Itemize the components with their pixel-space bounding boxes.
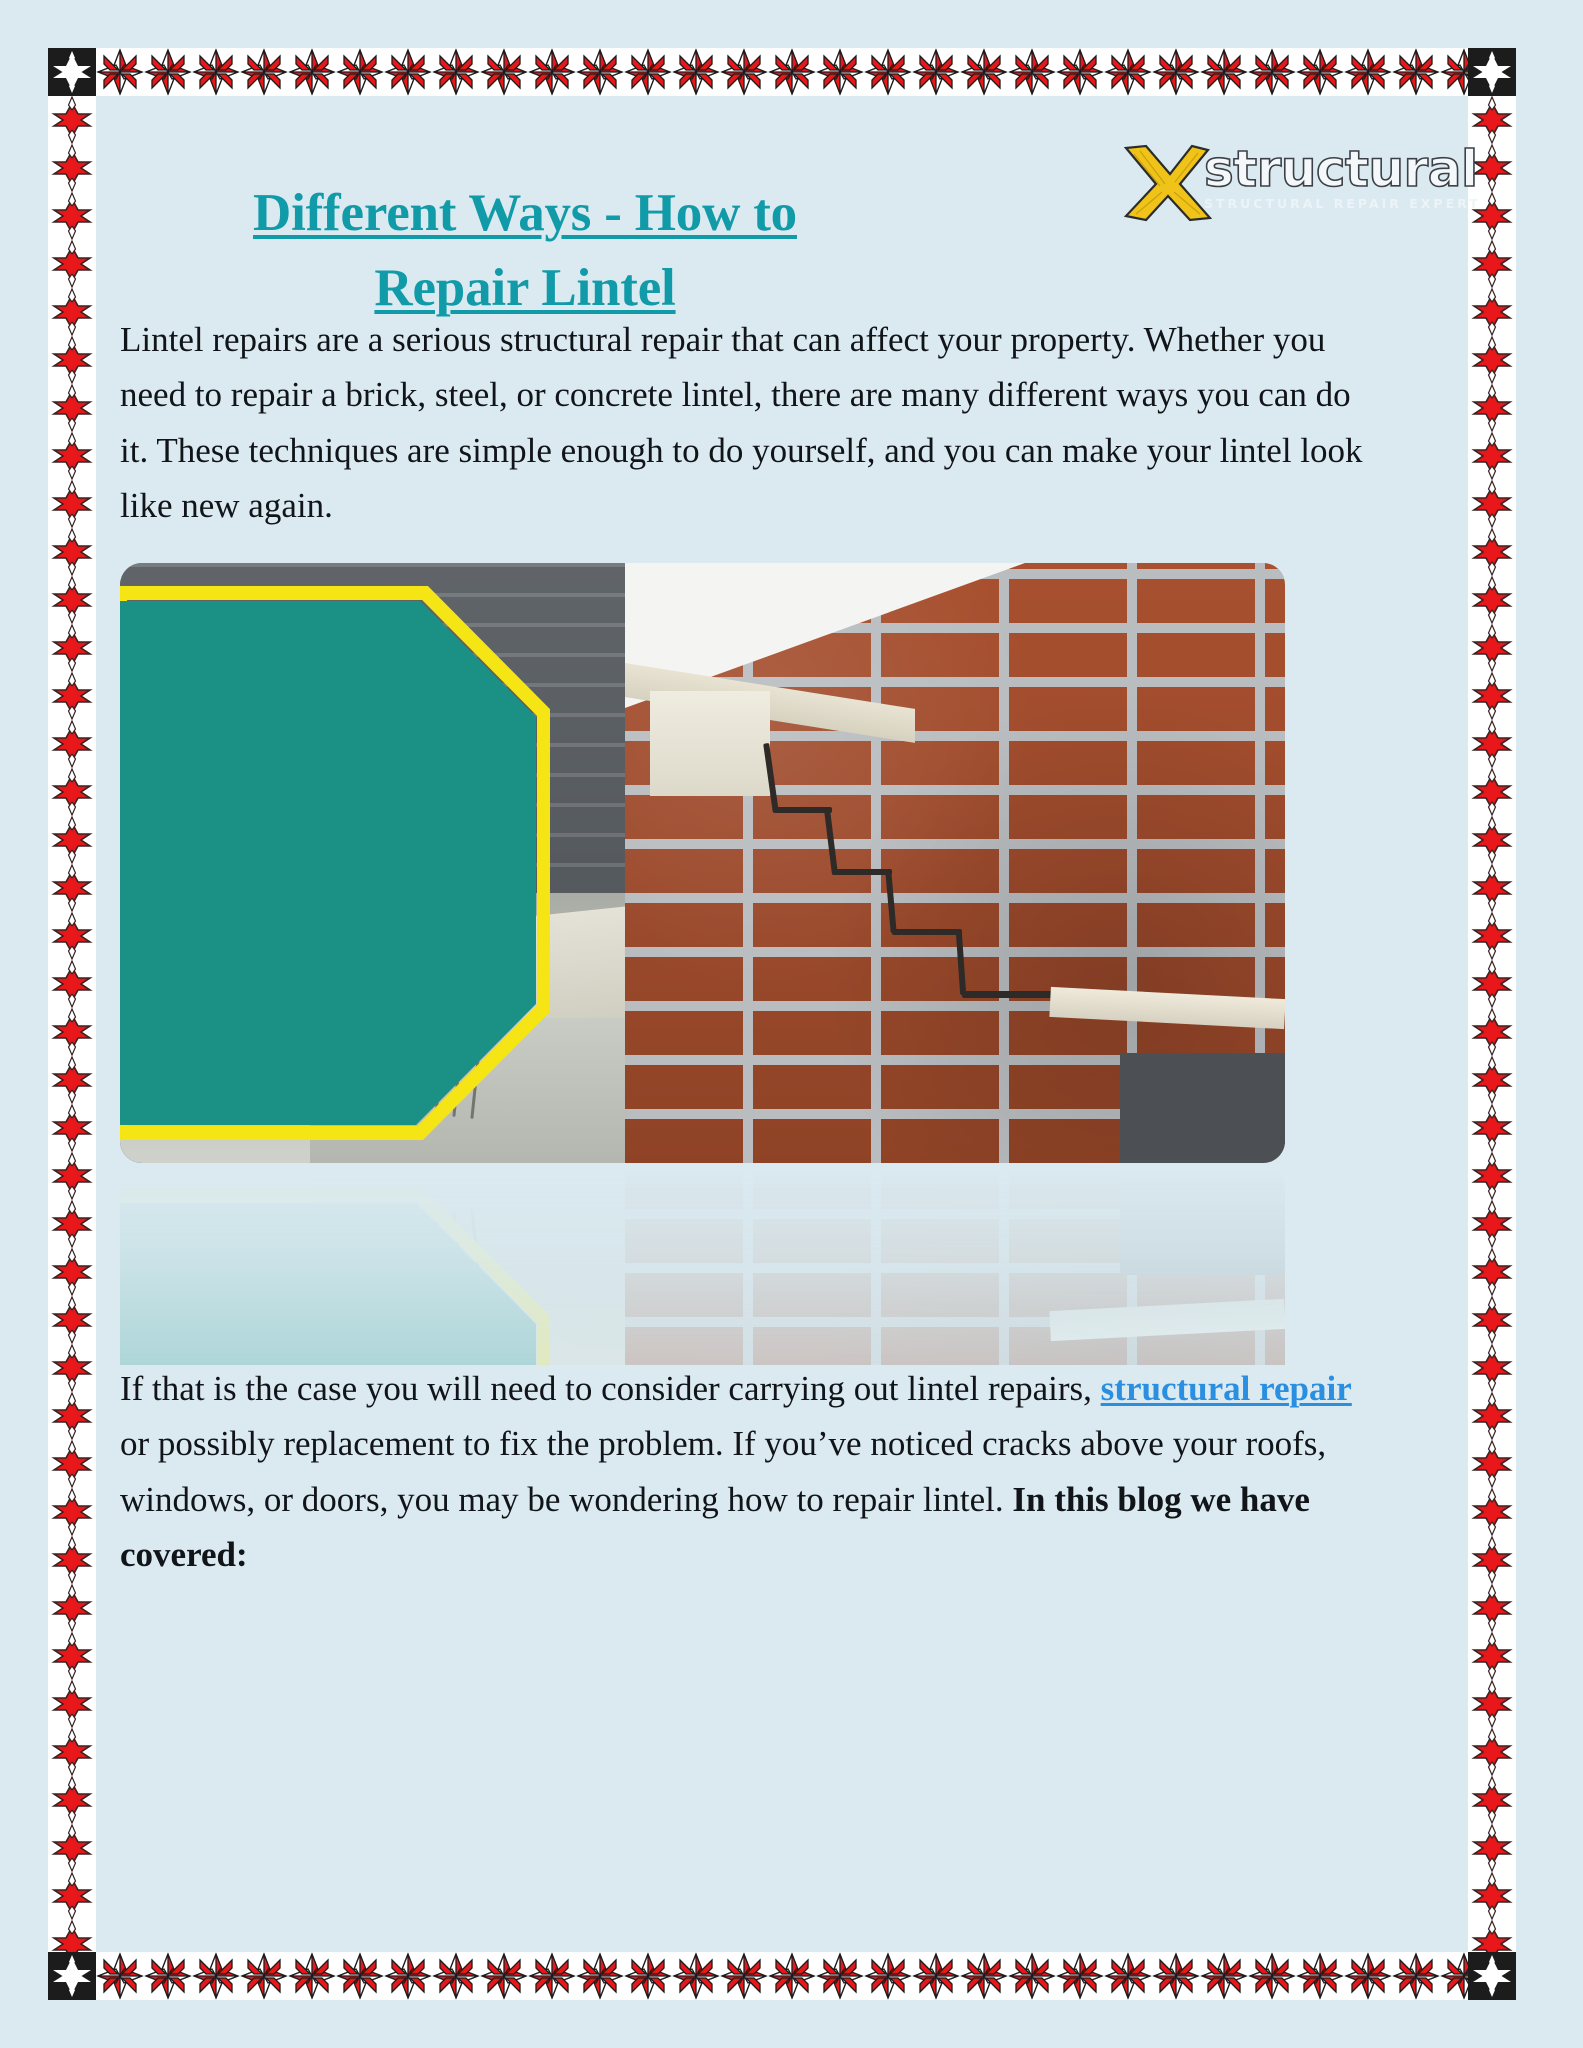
red-eight-point-star-icon (1152, 1952, 1200, 2000)
red-eight-point-star-icon (912, 48, 960, 96)
page-title-line-1: Different Ways - How to (253, 184, 797, 242)
red-eight-point-star-icon (768, 48, 816, 96)
red-six-point-star-icon (1468, 960, 1516, 1008)
red-eight-point-star-icon (336, 48, 384, 96)
red-six-point-star-icon (1468, 624, 1516, 672)
red-six-point-star-icon (1468, 1344, 1516, 1392)
red-eight-point-star-icon (720, 1952, 768, 2000)
red-six-point-star-icon (48, 1200, 96, 1248)
red-six-point-star-icon (1468, 1440, 1516, 1488)
document-header: Different Ways - How toRepair Lintel (120, 104, 1450, 294)
red-eight-point-star-icon (480, 1952, 528, 2000)
red-eight-point-star-icon (528, 48, 576, 96)
red-six-point-star-icon (1468, 1392, 1516, 1440)
red-six-point-star-icon (48, 528, 96, 576)
border-star-column-left (48, 96, 96, 1952)
red-eight-point-star-icon (576, 1952, 624, 2000)
red-six-point-star-icon (48, 240, 96, 288)
red-eight-point-star-icon (1104, 48, 1152, 96)
red-six-point-star-icon (1468, 816, 1516, 864)
red-six-point-star-icon (1468, 576, 1516, 624)
red-six-point-star-icon (1468, 1056, 1516, 1104)
brand-logo-tagline: STRUCTURAL REPAIR EXPERT (1204, 196, 1494, 211)
red-six-point-star-icon (48, 720, 96, 768)
red-six-point-star-icon (48, 432, 96, 480)
red-six-point-star-icon (1468, 1872, 1516, 1920)
red-eight-point-star-icon (432, 1952, 480, 2000)
photo-wall-crack (832, 869, 892, 875)
closing-paragraph-part-1: If that is the case you will need to con… (120, 1369, 1101, 1408)
red-eight-point-star-icon (240, 48, 288, 96)
white-six-point-star-icon (48, 1952, 96, 2000)
red-eight-point-star-icon (384, 1952, 432, 2000)
red-six-point-star-icon (1468, 1296, 1516, 1344)
red-six-point-star-icon (48, 912, 96, 960)
red-eight-point-star-icon (1200, 48, 1248, 96)
red-six-point-star-icon (48, 1440, 96, 1488)
red-six-point-star-icon (1468, 1200, 1516, 1248)
red-eight-point-star-icon (240, 1952, 288, 2000)
red-eight-point-star-icon (912, 1952, 960, 2000)
red-six-point-star-icon (1468, 1776, 1516, 1824)
red-eight-point-star-icon (192, 48, 240, 96)
red-eight-point-star-icon (144, 1952, 192, 2000)
red-eight-point-star-icon (1056, 1952, 1104, 2000)
red-eight-point-star-icon (1008, 48, 1056, 96)
red-six-point-star-icon (48, 1632, 96, 1680)
red-six-point-star-icon (1468, 720, 1516, 768)
border-star-column-right (1468, 96, 1516, 1952)
red-eight-point-star-icon (1440, 1952, 1468, 2000)
red-eight-point-star-icon (144, 48, 192, 96)
border-corner-top-right (1468, 48, 1516, 96)
red-eight-point-star-icon (1008, 1952, 1056, 2000)
red-eight-point-star-icon (1344, 48, 1392, 96)
red-eight-point-star-icon (1056, 48, 1104, 96)
image-overlay-panel (120, 563, 550, 1163)
red-six-point-star-icon (48, 576, 96, 624)
red-six-point-star-icon (48, 1104, 96, 1152)
brand-logo-text: structural STRUCTURAL REPAIR EXPERT (1204, 144, 1494, 211)
red-eight-point-star-icon (816, 48, 864, 96)
red-eight-point-star-icon (1440, 48, 1468, 96)
document-page: Different Ways - How toRepair Lintel (0, 0, 1583, 2048)
photo-wall-crack (892, 929, 962, 935)
red-six-point-star-icon (48, 1008, 96, 1056)
red-six-point-star-icon (48, 480, 96, 528)
red-six-point-star-icon (1468, 912, 1516, 960)
red-six-point-star-icon (48, 1584, 96, 1632)
red-six-point-star-icon (48, 1248, 96, 1296)
red-six-point-star-icon (48, 1872, 96, 1920)
red-six-point-star-icon (1468, 1008, 1516, 1056)
red-eight-point-star-icon (960, 48, 1008, 96)
red-six-point-star-icon (1468, 480, 1516, 528)
border-corner-bottom-left (48, 1952, 96, 2000)
white-six-point-star-icon (1468, 48, 1516, 96)
red-six-point-star-icon (1468, 528, 1516, 576)
red-six-point-star-icon (48, 384, 96, 432)
red-six-point-star-icon (1468, 288, 1516, 336)
red-six-point-star-icon (48, 768, 96, 816)
red-six-point-star-icon (1468, 1824, 1516, 1872)
red-six-point-star-icon (1468, 1104, 1516, 1152)
red-eight-point-star-icon (864, 48, 912, 96)
border-corner-bottom-right (1468, 1952, 1516, 2000)
red-six-point-star-icon (1468, 1920, 1516, 1952)
red-eight-point-star-icon (192, 1952, 240, 2000)
red-six-point-star-icon (48, 1344, 96, 1392)
intro-paragraph: Lintel repairs are a serious structural … (120, 312, 1365, 533)
red-eight-point-star-icon (1152, 48, 1200, 96)
red-eight-point-star-icon (432, 48, 480, 96)
red-six-point-star-icon (1468, 432, 1516, 480)
red-six-point-star-icon (48, 672, 96, 720)
red-six-point-star-icon (48, 624, 96, 672)
red-six-point-star-icon (48, 1152, 96, 1200)
red-eight-point-star-icon (480, 48, 528, 96)
red-six-point-star-icon (48, 1824, 96, 1872)
red-eight-point-star-icon (1248, 48, 1296, 96)
document-content: Different Ways - How toRepair Lintel (120, 104, 1450, 1944)
red-eight-point-star-icon (1296, 48, 1344, 96)
red-six-point-star-icon (48, 96, 96, 144)
structural-repair-link[interactable]: structural repair (1101, 1369, 1352, 1408)
red-six-point-star-icon (1468, 1680, 1516, 1728)
page-title-line-2: Repair Lintel (374, 259, 675, 317)
red-six-point-star-icon (48, 1296, 96, 1344)
red-six-point-star-icon (1468, 1632, 1516, 1680)
red-six-point-star-icon (1468, 1488, 1516, 1536)
red-six-point-star-icon (1468, 1728, 1516, 1776)
red-six-point-star-icon (48, 1680, 96, 1728)
white-six-point-star-icon (48, 48, 96, 96)
red-eight-point-star-icon (720, 48, 768, 96)
border-star-row-top (96, 48, 1468, 96)
red-eight-point-star-icon (288, 1952, 336, 2000)
red-eight-point-star-icon (288, 48, 336, 96)
red-eight-point-star-icon (1392, 1952, 1440, 2000)
red-six-point-star-icon (1468, 864, 1516, 912)
red-six-point-star-icon (48, 864, 96, 912)
border-corner-top-left (48, 48, 96, 96)
border-star-row-bottom (96, 1952, 1468, 2000)
red-six-point-star-icon (48, 816, 96, 864)
photo-window-opening (1120, 1053, 1285, 1163)
photo-soffit-end-box (650, 691, 770, 796)
red-eight-point-star-icon (96, 48, 144, 96)
red-eight-point-star-icon (528, 1952, 576, 2000)
feature-image: structural STRUCTURAL REPAIR EXPERT HOW … (120, 563, 1285, 1163)
red-six-point-star-icon (48, 1488, 96, 1536)
feature-image-block: structural STRUCTURAL REPAIR EXPERT HOW … (120, 563, 1285, 1163)
brand-logo: structural STRUCTURAL REPAIR EXPERT (1120, 144, 1488, 228)
red-six-point-star-icon (1468, 96, 1516, 144)
red-six-point-star-icon (48, 1392, 96, 1440)
red-eight-point-star-icon (624, 1952, 672, 2000)
red-six-point-star-icon (48, 144, 96, 192)
red-six-point-star-icon (48, 192, 96, 240)
red-eight-point-star-icon (1344, 1952, 1392, 2000)
red-eight-point-star-icon (1104, 1952, 1152, 2000)
red-six-point-star-icon (1468, 768, 1516, 816)
red-six-point-star-icon (48, 1776, 96, 1824)
red-eight-point-star-icon (1200, 1952, 1248, 2000)
red-six-point-star-icon (48, 1536, 96, 1584)
red-eight-point-star-icon (624, 48, 672, 96)
red-six-point-star-icon (1468, 1248, 1516, 1296)
red-six-point-star-icon (1468, 672, 1516, 720)
brand-logo-name: structural (1204, 144, 1494, 194)
red-eight-point-star-icon (672, 1952, 720, 2000)
x-mark-icon (1120, 144, 1212, 222)
red-six-point-star-icon (1468, 1536, 1516, 1584)
red-eight-point-star-icon (1296, 1952, 1344, 2000)
red-eight-point-star-icon (1248, 1952, 1296, 2000)
red-eight-point-star-icon (576, 48, 624, 96)
red-eight-point-star-icon (336, 1952, 384, 2000)
white-six-point-star-icon (1468, 1952, 1516, 2000)
page-title: Different Ways - How toRepair Lintel (120, 176, 930, 327)
closing-paragraph: If that is the case you will need to con… (120, 1361, 1365, 1582)
red-six-point-star-icon (1468, 384, 1516, 432)
red-six-point-star-icon (48, 1728, 96, 1776)
red-six-point-star-icon (1468, 336, 1516, 384)
red-eight-point-star-icon (768, 1952, 816, 2000)
red-eight-point-star-icon (96, 1952, 144, 2000)
red-six-point-star-icon (1468, 240, 1516, 288)
red-eight-point-star-icon (816, 1952, 864, 2000)
red-six-point-star-icon (48, 960, 96, 1008)
red-eight-point-star-icon (1392, 48, 1440, 96)
red-eight-point-star-icon (672, 48, 720, 96)
red-six-point-star-icon (1468, 1584, 1516, 1632)
red-eight-point-star-icon (384, 48, 432, 96)
red-six-point-star-icon (48, 1056, 96, 1104)
red-six-point-star-icon (1468, 1152, 1516, 1200)
red-six-point-star-icon (48, 288, 96, 336)
feature-image-reflection: DIFFERENT WAYS (120, 1165, 1285, 1365)
red-eight-point-star-icon (960, 1952, 1008, 2000)
red-eight-point-star-icon (864, 1952, 912, 2000)
red-six-point-star-icon (48, 1920, 96, 1952)
red-six-point-star-icon (48, 336, 96, 384)
